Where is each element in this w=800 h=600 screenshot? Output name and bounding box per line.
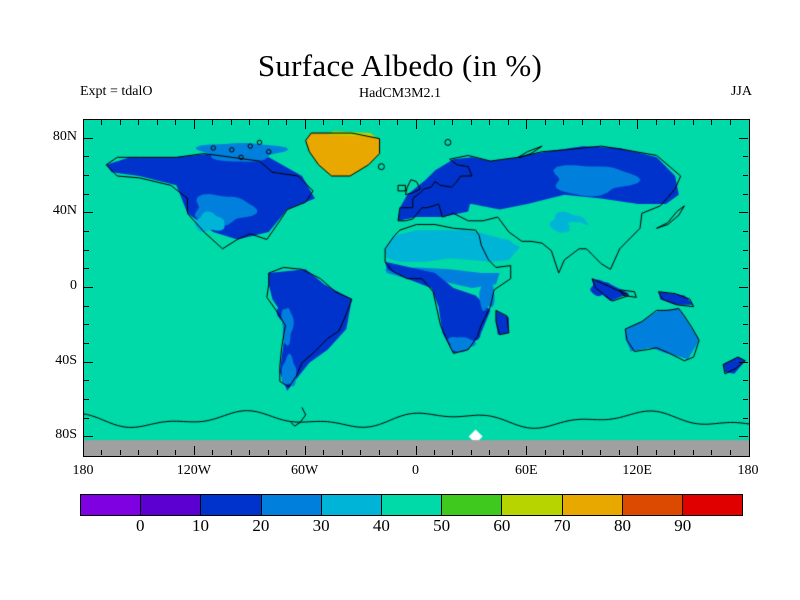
tick-mark — [138, 450, 139, 455]
tick-mark — [693, 450, 694, 455]
figure-root: Surface Albedo (in %) Expt = tdalO HadCM… — [0, 0, 800, 600]
tick-mark — [305, 120, 306, 129]
tick-mark — [231, 120, 232, 125]
tick-mark — [84, 268, 89, 269]
colorbar-segment — [201, 495, 261, 515]
x-axis-tick-label: 120E — [622, 463, 652, 479]
tick-mark — [739, 212, 748, 213]
tick-mark — [84, 380, 89, 381]
tick-mark — [84, 250, 89, 251]
tick-mark — [619, 450, 620, 455]
tick-mark — [743, 231, 748, 232]
tick-mark — [84, 287, 93, 288]
tick-mark — [286, 450, 287, 455]
tick-mark — [360, 450, 361, 455]
tick-mark — [582, 120, 583, 125]
tick-mark — [342, 120, 343, 125]
tick-mark — [739, 287, 748, 288]
tick-mark — [619, 120, 620, 125]
tick-mark — [743, 194, 748, 195]
tick-mark — [138, 120, 139, 125]
tick-mark — [743, 250, 748, 251]
tick-mark — [101, 120, 102, 125]
colorbar-segment — [502, 495, 562, 515]
tick-mark — [656, 120, 657, 125]
x-axis-tick-label: 120W — [177, 463, 211, 479]
x-axis-tick-label: 180 — [738, 463, 759, 479]
tick-mark — [323, 120, 324, 125]
tick-mark — [489, 450, 490, 455]
tick-mark — [730, 450, 731, 455]
colorbar-tick-label: 80 — [614, 516, 631, 536]
tick-mark — [563, 450, 564, 455]
tick-mark — [157, 120, 158, 125]
page-title: Surface Albedo (in %) — [0, 48, 800, 84]
colorbar-tick-label: 10 — [192, 516, 209, 536]
colorbar-segment — [262, 495, 322, 515]
tick-mark — [84, 194, 89, 195]
tick-mark — [84, 231, 89, 232]
colorbar-tick-label: 90 — [674, 516, 691, 536]
tick-mark — [286, 120, 287, 125]
albedo-map-canvas — [84, 120, 749, 456]
tick-mark — [157, 450, 158, 455]
tick-mark — [600, 450, 601, 455]
tick-mark — [545, 450, 546, 455]
tick-mark — [268, 120, 269, 125]
tick-mark — [101, 450, 102, 455]
tick-mark — [360, 120, 361, 125]
tick-mark — [175, 120, 176, 125]
tick-mark — [231, 450, 232, 455]
tick-mark — [452, 450, 453, 455]
tick-mark — [743, 380, 748, 381]
tick-mark — [656, 450, 657, 455]
y-axis-tick-label: 40S — [31, 353, 77, 369]
tick-mark — [637, 446, 638, 455]
colorbar-tick-label: 70 — [554, 516, 571, 536]
tick-mark — [434, 120, 435, 125]
colorbar-segment — [382, 495, 442, 515]
tick-mark — [194, 120, 195, 129]
colorbar-tick-label: 20 — [252, 516, 269, 536]
tick-mark — [743, 343, 748, 344]
tick-mark — [743, 268, 748, 269]
tick-mark — [268, 450, 269, 455]
tick-mark — [739, 436, 748, 437]
tick-mark — [743, 156, 748, 157]
colorbar-tick-label: 60 — [493, 516, 510, 536]
tick-mark — [84, 436, 93, 437]
tick-mark — [342, 450, 343, 455]
tick-mark — [743, 399, 748, 400]
tick-mark — [693, 120, 694, 125]
tick-mark — [305, 446, 306, 455]
colorbar-segment — [322, 495, 382, 515]
tick-mark — [84, 212, 93, 213]
tick-mark — [526, 446, 527, 455]
colorbar-segment — [81, 495, 141, 515]
colorbar-tick-label: 30 — [313, 516, 330, 536]
tick-mark — [120, 120, 121, 125]
colorbar-segment — [442, 495, 502, 515]
colorbar-tick-label: 0 — [136, 516, 145, 536]
tick-mark — [743, 418, 748, 419]
tick-mark — [84, 362, 93, 363]
colorbar-segment — [141, 495, 201, 515]
tick-mark — [711, 450, 712, 455]
tick-mark — [249, 450, 250, 455]
tick-mark — [730, 120, 731, 125]
tick-mark — [637, 120, 638, 129]
tick-mark — [84, 175, 89, 176]
map-plot-area — [83, 119, 750, 457]
tick-mark — [249, 120, 250, 125]
tick-mark — [379, 450, 380, 455]
y-axis-tick-label: 80N — [31, 129, 77, 145]
colorbar-segment — [623, 495, 683, 515]
tick-mark — [489, 120, 490, 125]
y-axis-tick-label: 40N — [31, 203, 77, 219]
tick-mark — [397, 120, 398, 125]
tick-mark — [508, 120, 509, 125]
tick-mark — [452, 120, 453, 125]
tick-mark — [194, 446, 195, 455]
x-axis-tick-label: 0 — [412, 463, 419, 479]
y-axis-tick-label: 0 — [31, 278, 77, 294]
colorbar-segment — [683, 495, 742, 515]
tick-mark — [526, 120, 527, 129]
tick-mark — [84, 306, 89, 307]
tick-mark — [743, 306, 748, 307]
tick-mark — [508, 450, 509, 455]
tick-mark — [471, 120, 472, 125]
tick-mark — [743, 175, 748, 176]
tick-mark — [674, 450, 675, 455]
tick-mark — [582, 450, 583, 455]
tick-mark — [379, 120, 380, 125]
tick-mark — [323, 450, 324, 455]
tick-mark — [120, 450, 121, 455]
tick-mark — [563, 120, 564, 125]
colorbar-tick-label: 40 — [373, 516, 390, 536]
tick-mark — [471, 450, 472, 455]
x-axis-tick-label: 180 — [73, 463, 94, 479]
tick-mark — [545, 120, 546, 125]
tick-mark — [739, 138, 748, 139]
tick-mark — [416, 120, 417, 129]
tick-mark — [84, 343, 89, 344]
tick-mark — [175, 450, 176, 455]
x-axis-tick-label: 60W — [291, 463, 318, 479]
colorbar-tick-label: 50 — [433, 516, 450, 536]
tick-mark — [600, 120, 601, 125]
tick-mark — [84, 138, 93, 139]
tick-mark — [743, 324, 748, 325]
tick-mark — [674, 120, 675, 125]
colorbar — [80, 494, 743, 516]
tick-mark — [739, 362, 748, 363]
tick-mark — [84, 399, 89, 400]
tick-mark — [711, 120, 712, 125]
tick-mark — [84, 324, 89, 325]
season-label: JJA — [0, 84, 752, 100]
y-axis-tick-label: 80S — [31, 427, 77, 443]
tick-mark — [434, 450, 435, 455]
tick-mark — [84, 418, 89, 419]
tick-mark — [84, 156, 89, 157]
x-axis-tick-label: 60E — [515, 463, 538, 479]
tick-mark — [212, 120, 213, 125]
colorbar-segment — [563, 495, 623, 515]
tick-mark — [416, 446, 417, 455]
tick-mark — [212, 450, 213, 455]
tick-mark — [397, 450, 398, 455]
